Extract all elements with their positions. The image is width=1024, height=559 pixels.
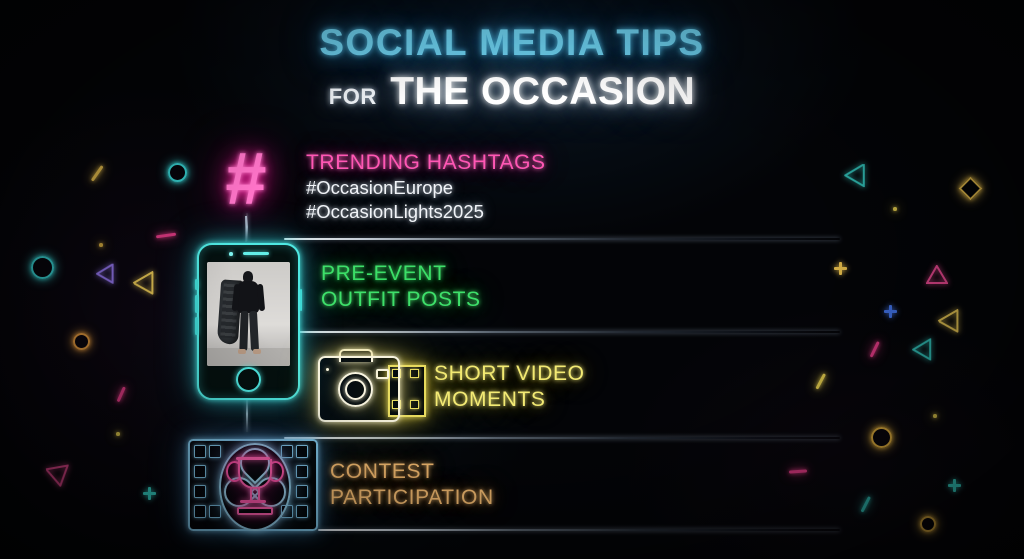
- badge-perforation: [194, 505, 206, 518]
- confetti-triangle: [96, 264, 114, 284]
- row-trending-hashtags-text: TRENDING HASHTAGS #OccasionEurope #Occas…: [306, 150, 546, 224]
- confetti-circle: [168, 163, 187, 182]
- filmstrip-sprocket: [410, 400, 419, 409]
- title-for-word: FOR: [329, 84, 377, 109]
- row-2-title-line-2: OUTFIT POSTS: [321, 287, 481, 313]
- confetti-triangle: [844, 164, 865, 187]
- title-line-1: SOCIAL MEDIA TIPS: [0, 22, 1024, 64]
- photo-model-torso: [237, 281, 259, 313]
- confetti-dash: [789, 469, 807, 473]
- badge-perforation: [194, 445, 206, 458]
- confetti-triangle: [926, 265, 948, 284]
- confetti-triangle: [45, 464, 72, 489]
- camera-indicator-dot: [326, 368, 329, 371]
- photo-model-shoe-right: [253, 349, 261, 353]
- row-4-title-line-2: PARTICIPATION: [330, 485, 494, 511]
- hashtag-sign-post: [245, 216, 247, 242]
- trophy-cup: [238, 459, 272, 489]
- photo-model-shoe-left: [238, 349, 246, 353]
- row-contest-participation-text: CONTEST PARTICIPATION: [330, 459, 494, 510]
- phone-side-button: [195, 279, 198, 290]
- phone-speaker-icon: [243, 252, 269, 255]
- camera-film-neon-icon: [318, 347, 426, 419]
- badge-perforation: [281, 445, 293, 458]
- divider-line-3: [284, 437, 840, 439]
- confetti-circle: [871, 427, 892, 448]
- phone-volume-up-button: [195, 295, 198, 313]
- phone-volume-down-button: [195, 317, 198, 335]
- connector-line-phone-to-contest: [246, 396, 248, 432]
- confetti-triangle: [912, 339, 931, 361]
- confetti-circle: [920, 516, 936, 532]
- confetti-dash: [870, 341, 880, 357]
- trophy-cup-rim: [236, 457, 270, 460]
- phone-home-button-icon: [236, 367, 261, 392]
- hashtag-item-2: #OccasionLights2025: [306, 200, 546, 224]
- badge-perforation: [194, 485, 206, 498]
- page-title: SOCIAL MEDIA TIPS FOR THE OCCASION: [0, 22, 1024, 114]
- confetti-plus: [834, 262, 847, 275]
- confetti-dash: [156, 233, 176, 238]
- confetti-plus: [884, 305, 897, 318]
- confetti-triangle: [937, 309, 968, 339]
- row-1-title: TRENDING HASHTAGS: [306, 150, 546, 176]
- row-short-video-moments-text: SHORT VIDEO MOMENTS: [434, 361, 585, 412]
- confetti-circle: [73, 333, 90, 350]
- divider-line-4: [318, 529, 840, 531]
- camera-lens-inner: [345, 379, 366, 400]
- trophy-base-upper: [240, 500, 266, 503]
- confetti-dot: [933, 414, 937, 418]
- badge-perforation: [194, 465, 206, 478]
- phone-power-button: [300, 289, 303, 311]
- hashtag-item-1: #OccasionEurope: [306, 176, 546, 200]
- confetti-dot: [99, 243, 103, 247]
- confetti-dash: [91, 165, 103, 181]
- badge-perforation: [209, 445, 221, 458]
- divider-line-2: [284, 331, 840, 333]
- badge-perforation: [209, 505, 221, 518]
- title-line-2: FOR THE OCCASION: [0, 70, 1024, 114]
- badge-perforation: [296, 465, 308, 478]
- confetti-dash: [815, 373, 825, 389]
- confetti-dash: [861, 496, 871, 512]
- infographic-canvas: SOCIAL MEDIA TIPS FOR THE OCCASION # TRE…: [0, 0, 1024, 559]
- confetti-dot: [116, 432, 120, 436]
- confetti-diamond: [958, 176, 982, 200]
- smartphone-neon-icon: [197, 243, 300, 400]
- photo-floor: [207, 348, 290, 366]
- trophy-base-lower: [237, 507, 273, 515]
- confetti-plus: [948, 479, 961, 492]
- phone-camera-dot-icon: [229, 252, 233, 256]
- badge-perforation: [296, 485, 308, 498]
- row-3-title-line-2: MOMENTS: [434, 387, 585, 413]
- background-glow-bottom-right: [620, 300, 1024, 559]
- row-3-title-line-1: SHORT VIDEO: [434, 361, 585, 387]
- badge-perforation: [296, 505, 308, 518]
- confetti-triangle: [132, 271, 163, 301]
- trophy-film-badge-neon-icon: [188, 439, 318, 531]
- hashtag-neon-sign-icon: #: [206, 140, 286, 218]
- phone-screen-outfit-photo: [207, 262, 290, 366]
- row-4-title-line-1: CONTEST: [330, 459, 494, 485]
- badge-perforation: [296, 445, 308, 458]
- confetti-plus: [143, 487, 156, 500]
- camera-flash-window: [376, 369, 389, 379]
- row-2-title-line-1: PRE-EVENT: [321, 261, 481, 287]
- title-main-words: THE OCCASION: [390, 70, 695, 113]
- trophy-stem: [250, 487, 260, 500]
- filmstrip-sprocket: [410, 369, 419, 378]
- hashtag-glyph: #: [206, 140, 286, 218]
- confetti-dash: [117, 386, 126, 402]
- confetti-dot: [893, 207, 897, 211]
- confetti-circle: [31, 256, 54, 279]
- row-pre-event-outfit-posts-text: PRE-EVENT OUTFIT POSTS: [321, 261, 481, 312]
- divider-line-1: [284, 238, 840, 240]
